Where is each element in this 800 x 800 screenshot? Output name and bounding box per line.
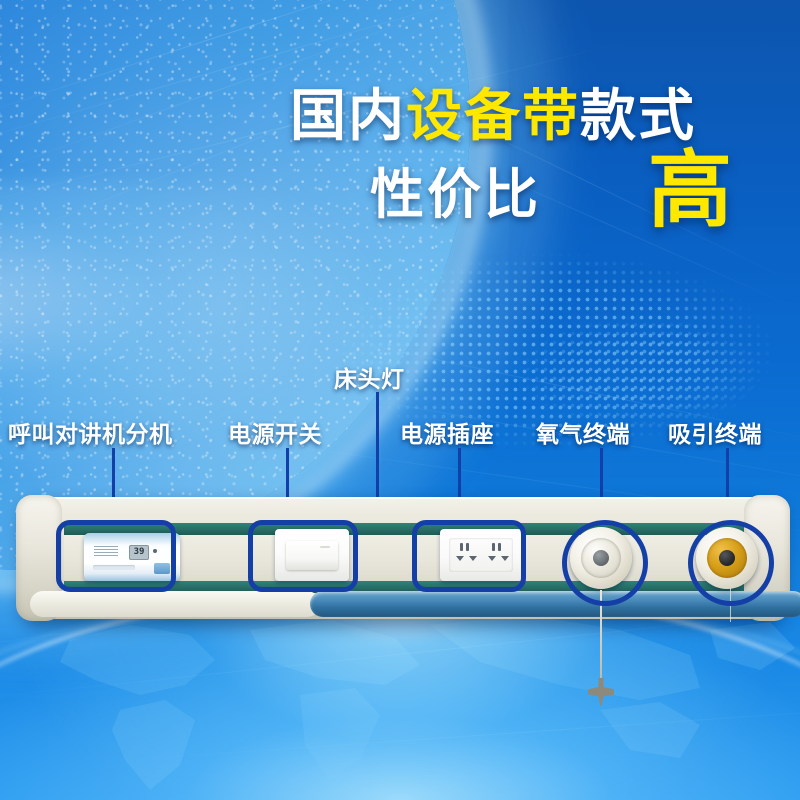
headline-emphasis: 高 bbox=[648, 148, 732, 232]
highlight-box-socket bbox=[412, 520, 526, 592]
highlight-box-intercom bbox=[56, 520, 176, 592]
highlight-box-switch bbox=[248, 520, 358, 592]
callout-label-suction-terminal: 吸引终端 bbox=[668, 415, 762, 449]
headline-block: 国内设备带款式 性价比 高 bbox=[0, 0, 800, 260]
poster-canvas: 国内设备带款式 性价比 高 呼叫对讲机分机 电源开关 床头灯 电源插座 氧气终端… bbox=[0, 0, 800, 800]
highlight-circle-suction bbox=[688, 520, 774, 606]
headline-part-3: 款式 bbox=[580, 84, 696, 147]
callout-label-nurse-call-intercom: 呼叫对讲机分机 bbox=[8, 415, 173, 449]
callout-label-bed-lamp: 床头灯 bbox=[334, 360, 405, 394]
headline-part-1: 国内 bbox=[290, 84, 406, 147]
headline-line-1: 国内设备带款式 bbox=[290, 88, 696, 144]
callout-label-power-switch: 电源开关 bbox=[228, 415, 322, 449]
headline-part-2: 设备带 bbox=[406, 84, 580, 147]
headline-line-2: 性价比 bbox=[370, 168, 541, 222]
callout-label-oxygen-terminal: 氧气终端 bbox=[536, 415, 630, 449]
highlight-circle-oxygen bbox=[562, 520, 648, 606]
callout-label-power-socket: 电源插座 bbox=[400, 415, 494, 449]
panel-rail-left bbox=[30, 591, 320, 617]
